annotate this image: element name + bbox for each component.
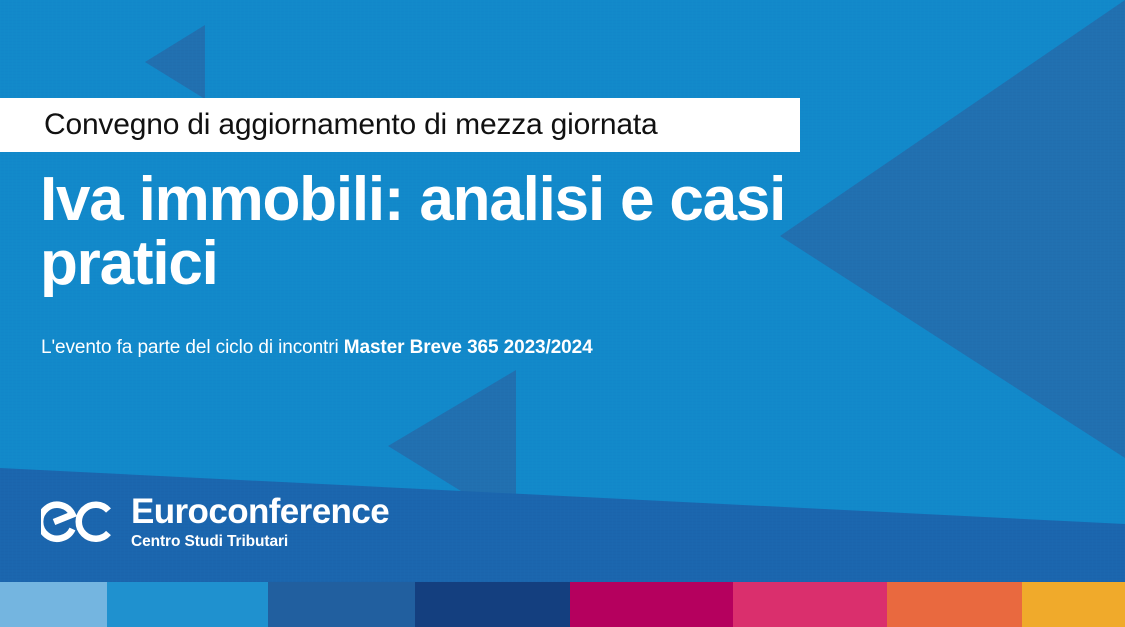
- eyebrow-strip: Convegno di aggiornamento di mezza giorn…: [0, 98, 800, 152]
- euroconference-logo: Euroconference Centro Studi Tributari: [41, 494, 389, 550]
- stripe-magenta: [570, 582, 733, 627]
- subtitle-series-name: Master Breve 365 2023/2024: [344, 337, 593, 358]
- logo-name: Euroconference: [131, 494, 389, 529]
- logo-tagline: Centro Studi Tributari: [131, 534, 389, 550]
- subtitle: L'evento fa parte del ciclo di incontri …: [41, 337, 593, 360]
- page-title: Iva immobili: analisi e casi pratici: [40, 168, 940, 297]
- stripe-medium-blue: [268, 582, 415, 627]
- stripe-amber: [1022, 582, 1125, 627]
- logo-wordmark: Euroconference Centro Studi Tributari: [131, 494, 389, 550]
- stripe-light-blue: [0, 582, 107, 627]
- stripe-blue: [107, 582, 268, 627]
- ec-monogram-icon: [41, 496, 115, 548]
- event-banner: Convegno di aggiornamento di mezza giorn…: [0, 0, 1125, 627]
- stripe-pink: [733, 582, 887, 627]
- color-stripe-bar: [0, 582, 1125, 627]
- stripe-navy: [415, 582, 570, 627]
- stripe-orange: [887, 582, 1022, 627]
- eyebrow-text: Convegno di aggiornamento di mezza giorn…: [0, 110, 657, 140]
- subtitle-prefix: L'evento fa parte del ciclo di incontri: [41, 337, 344, 358]
